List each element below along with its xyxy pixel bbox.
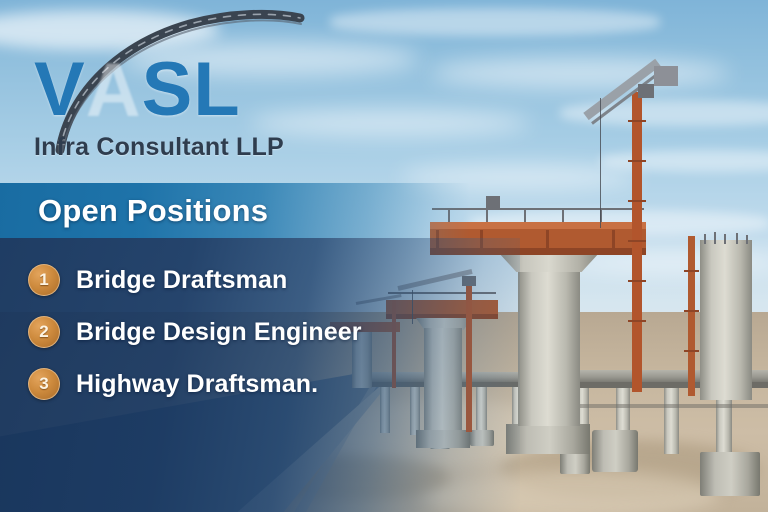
job-poster: VASL Infra Consultant LLP Open Positions… [0,0,768,512]
position-label: Bridge Design Engineer [76,318,362,347]
crane-mast-brace [628,320,646,322]
scaffold-brace [684,270,699,272]
open-positions-banner: Open Positions [0,183,470,238]
logo-letter-s: S [142,52,194,128]
positions-list: 1 Bridge Draftsman 2 Bridge Design Engin… [0,254,520,410]
list-item[interactable]: 1 Bridge Draftsman [0,254,520,306]
precast-block [560,452,590,474]
viaduct-pier [664,388,679,454]
deck-railing-post [486,208,488,222]
positions-panel: 1 Bridge Draftsman 2 Bridge Design Engin… [0,238,520,512]
number-badge: 3 [28,368,60,400]
formwork-strut [546,230,549,254]
edge-pier-rebar [736,233,738,244]
number-badge: 2 [28,316,60,348]
precast-block [592,430,638,472]
formwork-strut [612,230,615,254]
position-label: Bridge Draftsman [76,266,287,295]
crane-mast-brace [628,280,646,282]
viaduct-crossbeam [556,404,768,408]
edge-pier-rebar [704,234,706,244]
crane-hoist-cable [600,98,601,228]
scaffold-brace [684,350,699,352]
logo-letter-v: V [34,52,86,128]
cloud [430,58,730,88]
logo-letter-l: L [193,52,240,128]
edge-pier-rebar [746,235,748,244]
crane-counterweight [654,66,678,86]
site-equipment-box [486,196,500,210]
deck-railing-post [562,208,564,222]
steel-scaffold-tower [688,236,695,396]
list-item[interactable]: 3 Highway Draftsman. [0,358,520,410]
edge-pier-rebar [714,232,716,244]
edge-pier-column [700,240,752,400]
deck-railing-post [524,208,526,222]
position-label: Highway Draftsman. [76,370,318,399]
logo-tagline: Infra Consultant LLP [34,133,284,161]
crane-mast-brace [628,160,646,162]
list-item[interactable]: 2 Bridge Design Engineer [0,306,520,358]
scaffold-brace [684,310,699,312]
crane-mast-brace [628,200,646,202]
main-pier-column [518,268,580,426]
crane-mast-brace [628,240,646,242]
cloud [600,150,768,172]
company-logo: VASL Infra Consultant LLP [34,52,284,161]
cloud [330,8,660,36]
crane-operator-cab [638,84,654,98]
logo-wordmark: VASL [34,52,284,128]
tower-crane-mast [632,92,642,392]
logo-letter-a: A [86,52,142,128]
number-badge: 1 [28,264,60,296]
edge-pier-rebar [724,234,726,244]
banner-title: Open Positions [38,193,268,229]
crane-mast-brace [628,120,646,122]
precast-block [700,452,760,496]
